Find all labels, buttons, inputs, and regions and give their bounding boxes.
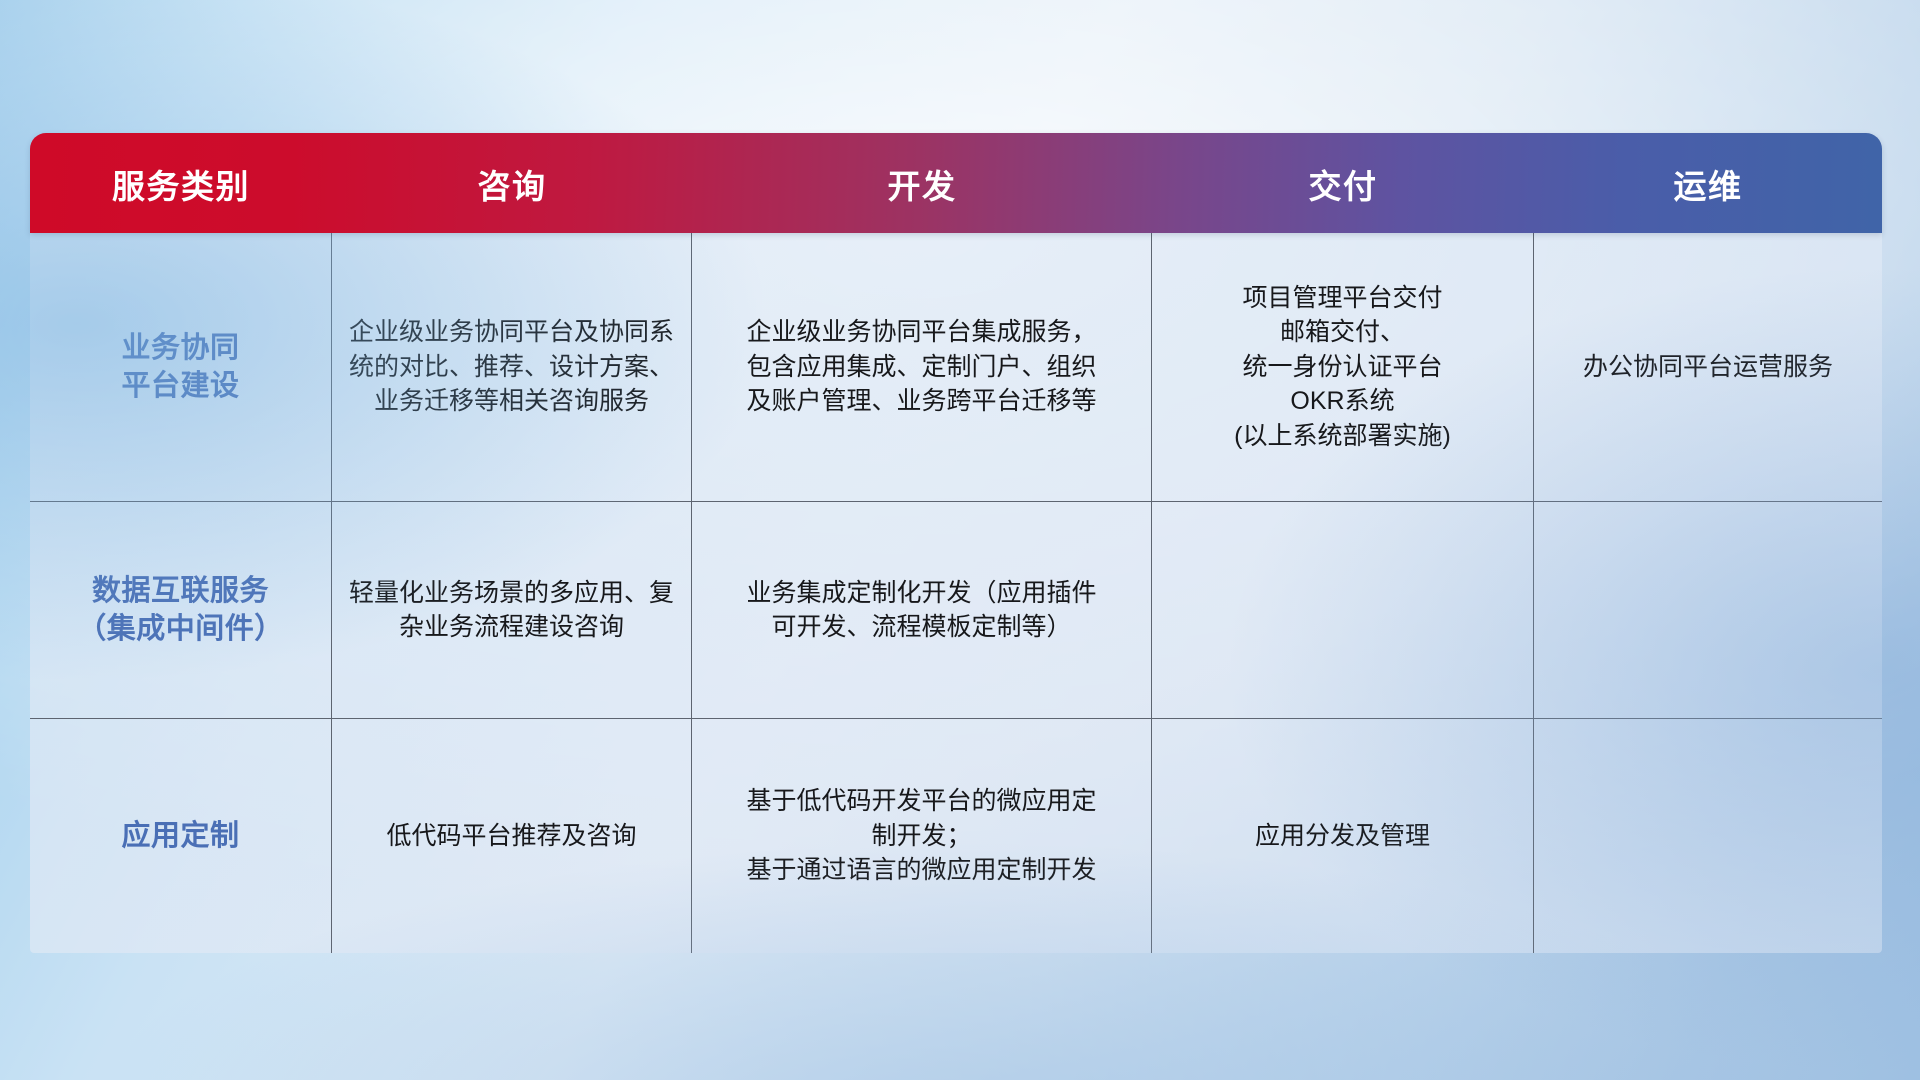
- column-header-operations: 运维: [1534, 133, 1882, 233]
- service-matrix-table: 服务类别 咨询 开发 交付 运维 业务协同 平台建设 企业级业务协同平台及协同系…: [30, 133, 1882, 951]
- cell-operations: [1534, 502, 1882, 718]
- row-label-text: 数据互联服务 （集成中间件）: [77, 572, 284, 649]
- row-label-cell: 数据互联服务 （集成中间件）: [30, 502, 332, 718]
- column-header-development: 开发: [692, 133, 1152, 233]
- slide-canvas: 服务类别 咨询 开发 交付 运维 业务协同 平台建设 企业级业务协同平台及协同系…: [0, 0, 1920, 1080]
- cell-consulting: 轻量化业务场景的多应用、复 杂业务流程建设咨询: [332, 502, 692, 718]
- cell-development: 业务集成定制化开发（应用插件 可开发、流程模板定制等）: [692, 502, 1152, 718]
- cell-text: 业务集成定制化开发（应用插件 可开发、流程模板定制等）: [746, 576, 1096, 645]
- row-label-text: 业务协同 平台建设: [121, 329, 239, 406]
- row-label-text: 应用定制: [121, 817, 239, 855]
- table-row: 应用定制 低代码平台推荐及咨询 基于低代码开发平台的微应用定 制开发； 基于通过…: [30, 719, 1882, 953]
- table-row: 业务协同 平台建设 企业级业务协同平台及协同系 统的对比、推荐、设计方案、 业务…: [30, 233, 1882, 502]
- cell-text: 企业级业务协同平台及协同系 统的对比、推荐、设计方案、 业务迁移等相关咨询服务: [349, 315, 674, 419]
- cell-text: 项目管理平台交付 邮箱交付、 统一身份认证平台 OKR系统 (以上系统部署实施): [1234, 281, 1451, 454]
- column-header-category: 服务类别: [30, 133, 332, 233]
- cell-development: 基于低代码开发平台的微应用定 制开发； 基于通过语言的微应用定制开发: [692, 719, 1152, 953]
- cell-development: 企业级业务协同平台集成服务， 包含应用集成、定制门户、组织 及账户管理、业务跨平…: [692, 233, 1152, 501]
- cell-delivery: 应用分发及管理: [1152, 719, 1534, 953]
- cell-text: 低代码平台推荐及咨询: [386, 819, 636, 854]
- table-row: 数据互联服务 （集成中间件） 轻量化业务场景的多应用、复 杂业务流程建设咨询 业…: [30, 502, 1882, 719]
- row-label-cell: 业务协同 平台建设: [30, 233, 332, 501]
- cell-consulting: 企业级业务协同平台及协同系 统的对比、推荐、设计方案、 业务迁移等相关咨询服务: [332, 233, 692, 501]
- cell-consulting: 低代码平台推荐及咨询: [332, 719, 692, 953]
- row-label-cell: 应用定制: [30, 719, 332, 953]
- column-header-consulting: 咨询: [332, 133, 692, 233]
- table-header-row: 服务类别 咨询 开发 交付 运维: [30, 133, 1882, 233]
- cell-text: 办公协同平台运营服务: [1583, 350, 1833, 385]
- cell-text: 基于低代码开发平台的微应用定 制开发； 基于通过语言的微应用定制开发: [746, 784, 1096, 888]
- table-body: 业务协同 平台建设 企业级业务协同平台及协同系 统的对比、推荐、设计方案、 业务…: [30, 233, 1882, 953]
- column-header-delivery: 交付: [1152, 133, 1534, 233]
- cell-operations: 办公协同平台运营服务: [1534, 233, 1882, 501]
- cell-text: 轻量化业务场景的多应用、复 杂业务流程建设咨询: [349, 576, 674, 645]
- cell-delivery: 项目管理平台交付 邮箱交付、 统一身份认证平台 OKR系统 (以上系统部署实施): [1152, 233, 1534, 501]
- cell-text: 企业级业务协同平台集成服务， 包含应用集成、定制门户、组织 及账户管理、业务跨平…: [746, 315, 1096, 419]
- cell-text: 应用分发及管理: [1255, 819, 1430, 854]
- cell-operations: [1534, 719, 1882, 953]
- cell-delivery: [1152, 502, 1534, 718]
